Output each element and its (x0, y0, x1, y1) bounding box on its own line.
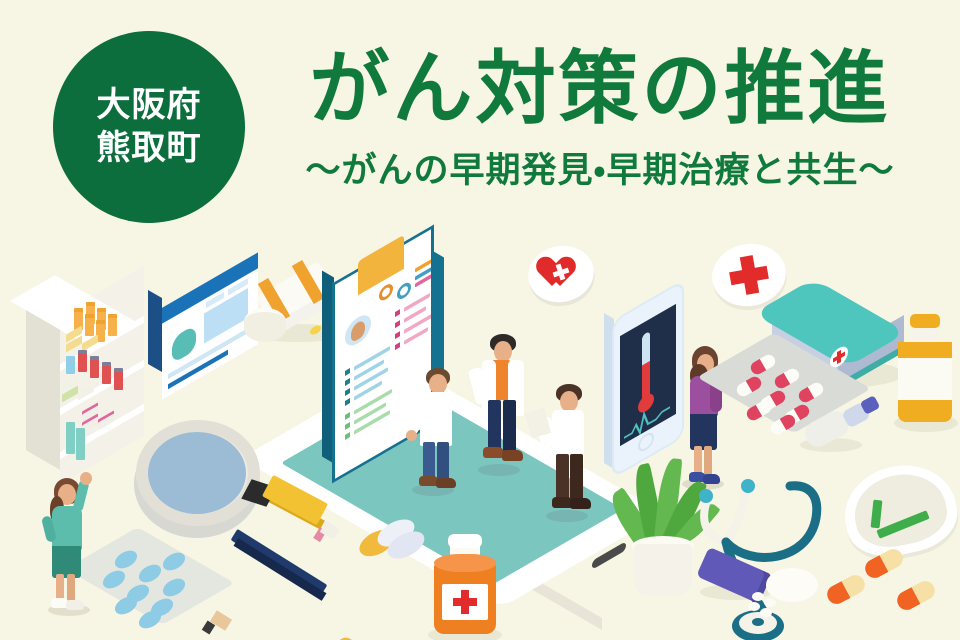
poster-header: 大阪府 熊取町 がん対策の推進 〜がんの早期発見・早期治療と共生〜 (0, 0, 960, 240)
badge-town-label: 熊取町 (97, 128, 202, 169)
heart-cross-badge-icon (528, 246, 594, 306)
orange-pill-bottle-icon (424, 532, 514, 640)
nurse-figure (36, 472, 126, 622)
page-title: がん対策の推進 (255, 42, 945, 136)
title-block: がん対策の推進 〜がんの早期発見・早期治療と共生〜 (255, 42, 945, 193)
page-subtitle: 〜がんの早期発見・早期治療と共生〜 (255, 142, 945, 193)
magnifying-glass-icon (134, 416, 314, 546)
doctor-figure-center (470, 334, 532, 480)
doctor-figure-left (406, 368, 466, 498)
municipality-badge: 大阪府 熊取町 (53, 31, 245, 223)
badge-prefecture-label: 大阪府 (97, 85, 202, 126)
poster-canvas: 大阪府 熊取町 がん対策の推進 〜がんの早期発見・早期治療と共生〜 (0, 0, 960, 640)
pharmacy-shelf-icon (26, 284, 146, 484)
inhaler-icon (800, 400, 890, 460)
illustration-scene (0, 236, 960, 640)
white-pill-disc-icon (766, 568, 818, 602)
doctor-figure-right (536, 384, 598, 526)
pencil-icon (226, 532, 366, 622)
yellow-block-icon (320, 636, 381, 640)
medicine-bottle-yellow-icon (892, 314, 960, 444)
shield-check-icon (844, 466, 960, 566)
